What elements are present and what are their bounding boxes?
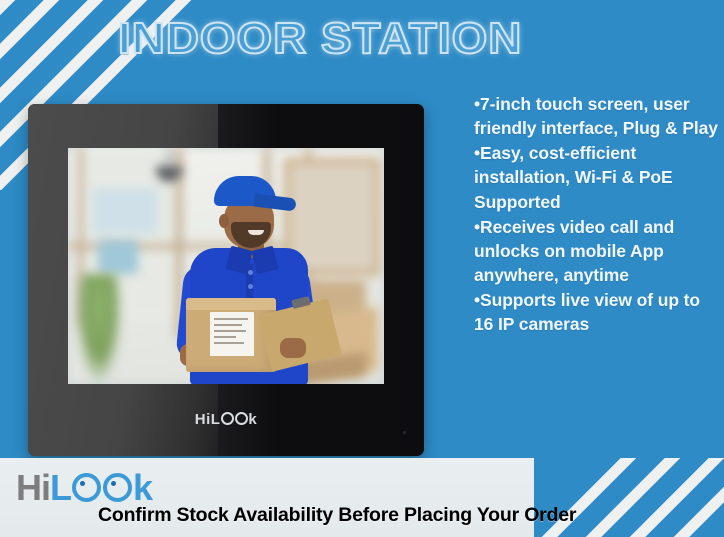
feature-list: 7-inch touch screen, user friendly inter… <box>474 92 718 337</box>
indoor-station-device: HiLk <box>28 104 424 456</box>
feature-item: Receives video call and unlocks on mobil… <box>474 215 718 287</box>
device-brand-prefix: HiL <box>195 411 221 428</box>
person-right-hand <box>280 338 306 358</box>
scene-poster <box>92 188 158 234</box>
person-mouth <box>248 230 264 235</box>
lens-icon <box>72 473 101 502</box>
person-ear <box>219 214 229 228</box>
logo-l-text: L <box>50 467 71 508</box>
parcel-box-top-flap <box>186 298 276 310</box>
footer-bar: HiLk Confirm Stock Availability Before P… <box>0 458 724 537</box>
parcel-shipping-label <box>210 312 254 356</box>
scene-poster-small <box>98 240 138 274</box>
feature-item: Easy, cost-efficient installation, Wi-Fi… <box>474 141 718 213</box>
logo-k-text: k <box>133 467 152 508</box>
person-shirt-button <box>248 270 253 275</box>
person-shirt-button <box>248 284 253 289</box>
device-brand-suffix: k <box>248 411 257 428</box>
lens-icon <box>235 412 248 425</box>
feature-item: 7-inch touch screen, user friendly inter… <box>474 92 718 140</box>
power-indicator-icon <box>403 431 406 434</box>
scene-plant-left <box>76 274 122 384</box>
screen-scene <box>68 148 384 384</box>
page-title: INDOOR STATION <box>118 14 522 64</box>
device-brand-logo: HiLk <box>28 411 424 428</box>
tagline-text: Confirm Stock Availability Before Placin… <box>98 504 576 527</box>
lens-icon <box>103 473 132 502</box>
device-screen[interactable] <box>68 148 384 384</box>
poster-canvas: INDOOR STATION <box>0 0 724 537</box>
logo-hi-text: Hi <box>16 467 50 508</box>
feature-item: Supports live view of up to 16 IP camera… <box>474 288 718 336</box>
hilook-logo: HiLk <box>16 470 152 506</box>
scene-pendant-rod <box>168 148 170 168</box>
lens-icon <box>221 412 234 425</box>
